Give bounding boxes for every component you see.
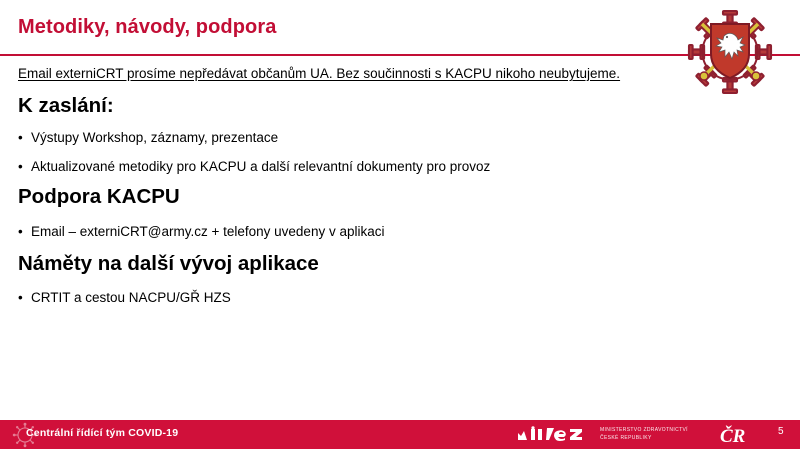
section-heading-k-zaslani: K zaslání: [18,94,114,118]
slide-body: Email externiCRT prosíme nepředávat obča… [0,60,800,415]
ministry-health-name: MINISTERSTVO ZDRAVOTNICTVÍ ČESKÉ REPUBLI… [600,426,688,442]
presentation-slide: Metodiky, návody, podpora [0,0,800,449]
svg-text:ČR: ČR [720,425,745,447]
lead-underlined-note: Email externiCRT prosíme nepředávat obča… [18,66,620,81]
footer-team-label: Centrální řídící tým COVID-19 [26,427,178,439]
ministry-health-logo-icon [517,426,591,443]
ministry-line-1: MINISTERSTVO ZDRAVOTNICTVÍ [600,426,688,434]
section-heading-namety: Náměty na další vývoj aplikace [18,252,319,276]
list-item: Email – externiCRT@army.cz + telefony uv… [18,224,384,239]
list-item: Aktualizované metodiky pro KACPU a další… [18,159,490,174]
slide-title: Metodiky, návody, podpora [18,16,276,39]
list-item: CRTIT a cestou NACPU/GŘ HZS [18,290,231,305]
page-number: 5 [778,426,784,437]
section-heading-podpora-kacpu: Podpora KACPU [18,185,180,209]
ministry-line-2: ČESKÉ REPUBLIKY [600,434,688,442]
cr-monogram-logo-icon: ČR [718,423,764,447]
list-item: Výstupy Workshop, záznamy, prezentace [18,130,278,145]
czech-army-emblem-icon [678,4,782,98]
